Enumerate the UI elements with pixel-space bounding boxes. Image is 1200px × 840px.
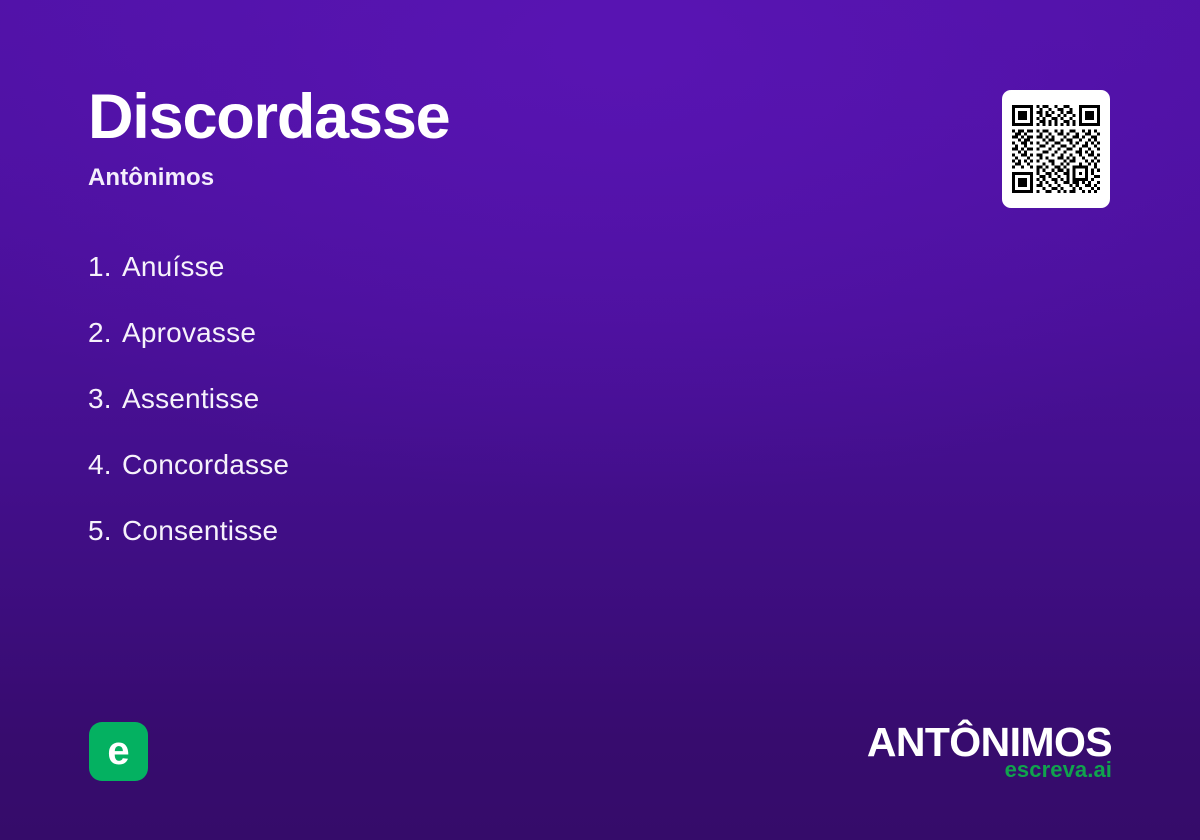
page-subtitle: Antônimos: [88, 165, 908, 191]
list-item: 1. Anuísse: [88, 234, 848, 300]
brand-lockup: ANTÔNIMOS escreva.ai: [867, 722, 1112, 781]
app-logo-letter: e: [107, 731, 129, 771]
list-item: 3. Assentisse: [88, 366, 848, 432]
list-item-term: Aprovasse: [122, 319, 256, 347]
list-item-rank: 5.: [88, 517, 122, 545]
qr-code-panel[interactable]: [1002, 90, 1110, 208]
list-item-term: Concordasse: [122, 451, 289, 479]
list-item-rank: 2.: [88, 319, 122, 347]
page-title: Discordasse: [88, 86, 908, 149]
list-item: 5. Consentisse: [88, 498, 848, 564]
escreva-app-logo[interactable]: e: [89, 722, 148, 781]
list-item-rank: 1.: [88, 253, 122, 281]
antonym-list: 1. Anuísse 2. Aprovasse 3. Assentisse 4.…: [88, 234, 848, 564]
list-item-term: Assentisse: [122, 385, 259, 413]
list-item-rank: 3.: [88, 385, 122, 413]
list-item-term: Anuísse: [122, 253, 225, 281]
antonyms-card: Discordasse Antônimos 1. Anuísse 2. Apro…: [0, 0, 1200, 840]
list-item: 2. Aprovasse: [88, 300, 848, 366]
list-item-term: Consentisse: [122, 517, 278, 545]
qr-code-icon: [1012, 105, 1100, 193]
list-item: 4. Concordasse: [88, 432, 848, 498]
headline-block: Discordasse Antônimos: [88, 86, 908, 191]
list-item-rank: 4.: [88, 451, 122, 479]
